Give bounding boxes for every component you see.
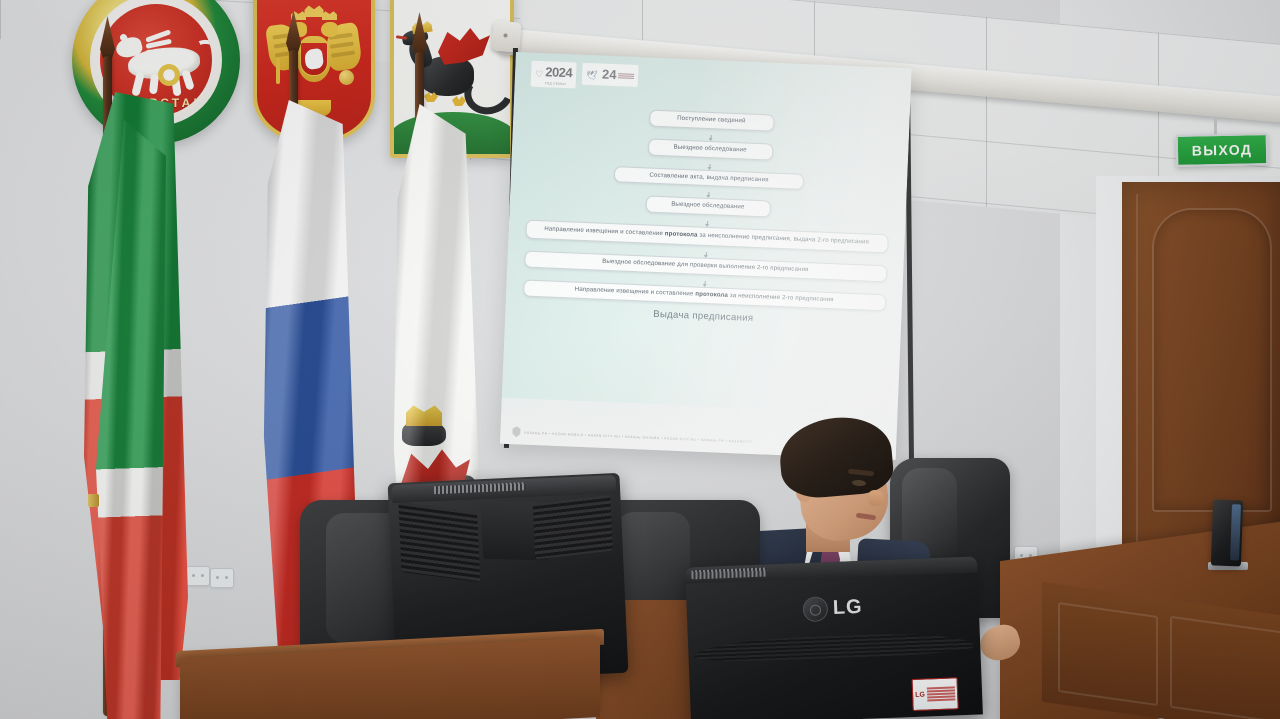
door-stile [1136,194,1138,568]
slide-logos: ♡ 2024 ГОД СЕМЬИ 🕊 24 [531,61,639,91]
desk-speaker [1211,499,1243,566]
eagle-crown-center [305,4,324,17]
bird-icon: 🕊 [586,70,598,80]
year-logo: ♡ 2024 ГОД СЕМЬИ [531,61,577,89]
sticker-brand: LG [915,691,925,698]
wooden-door[interactable] [1122,182,1280,580]
flow-node: Выездное обследование [647,138,773,160]
flagpole-collar [88,494,99,507]
flow-connector [704,281,705,286]
eagle-head-right [321,22,338,37]
wall-socket[interactable] [186,566,210,586]
leopard-leg [181,69,195,90]
zilant-wing [438,28,490,68]
monitor-vents [533,495,613,560]
footer-emblem-icon [512,426,520,437]
lg-logo: LG [802,595,863,622]
leopard-rosette [158,64,180,86]
year-logo-subtext: ГОД СЕМЬИ [545,81,572,86]
lg-circle-icon [802,596,828,622]
anniversary-logo-text: 24 [602,67,617,83]
double-headed-eagle-icon [268,8,360,120]
process-flow-diagram: Поступление сведений Выездное обследован… [505,104,909,330]
eagle-orb [339,70,354,85]
exit-sign: ВЫХОД [1176,133,1269,167]
zilant-tongue [396,35,407,40]
monitor-vents [694,631,975,664]
monitor-vents [398,502,480,582]
leopard-wing [146,38,180,56]
eagle-crown-right [322,10,337,20]
st-george-rider [304,48,325,70]
monitor-energy-sticker: LG [912,677,959,711]
flow-connector [707,221,708,226]
flow-connector [708,192,709,197]
projection-screen: ♡ 2024 ГОД СЕМЬИ 🕊 24 Поступление сведен… [500,52,912,460]
wall-socket[interactable] [210,568,234,588]
eagle-shield [300,42,328,76]
logo-decoration [618,73,634,79]
conference-room-photo: ТАТАРСТАН [0,0,1280,719]
flow-node: Поступление сведений [649,110,775,132]
flow-connector [710,135,711,140]
presentation-slide: ♡ 2024 ГОД СЕМЬИ 🕊 24 Поступление сведен… [500,52,912,460]
hair [777,413,895,500]
anniversary-logo: 🕊 24 [582,63,639,87]
exit-sign-label: ВЫХОД [1192,141,1253,158]
flow-connector [709,164,710,169]
nose [868,490,884,506]
lg-brand-text: LG [832,596,863,620]
sticker-bars [927,686,956,701]
winged-leopard-icon [114,30,212,104]
heart-icon: ♡ [535,68,544,79]
year-logo-text: 2024 [545,64,573,80]
flow-node: Выездное обследование [645,196,771,218]
eagle-scepter [276,58,280,84]
lg-monitor: LG LG [685,556,983,719]
flow-connector [705,252,706,257]
door-panel [1152,208,1272,512]
